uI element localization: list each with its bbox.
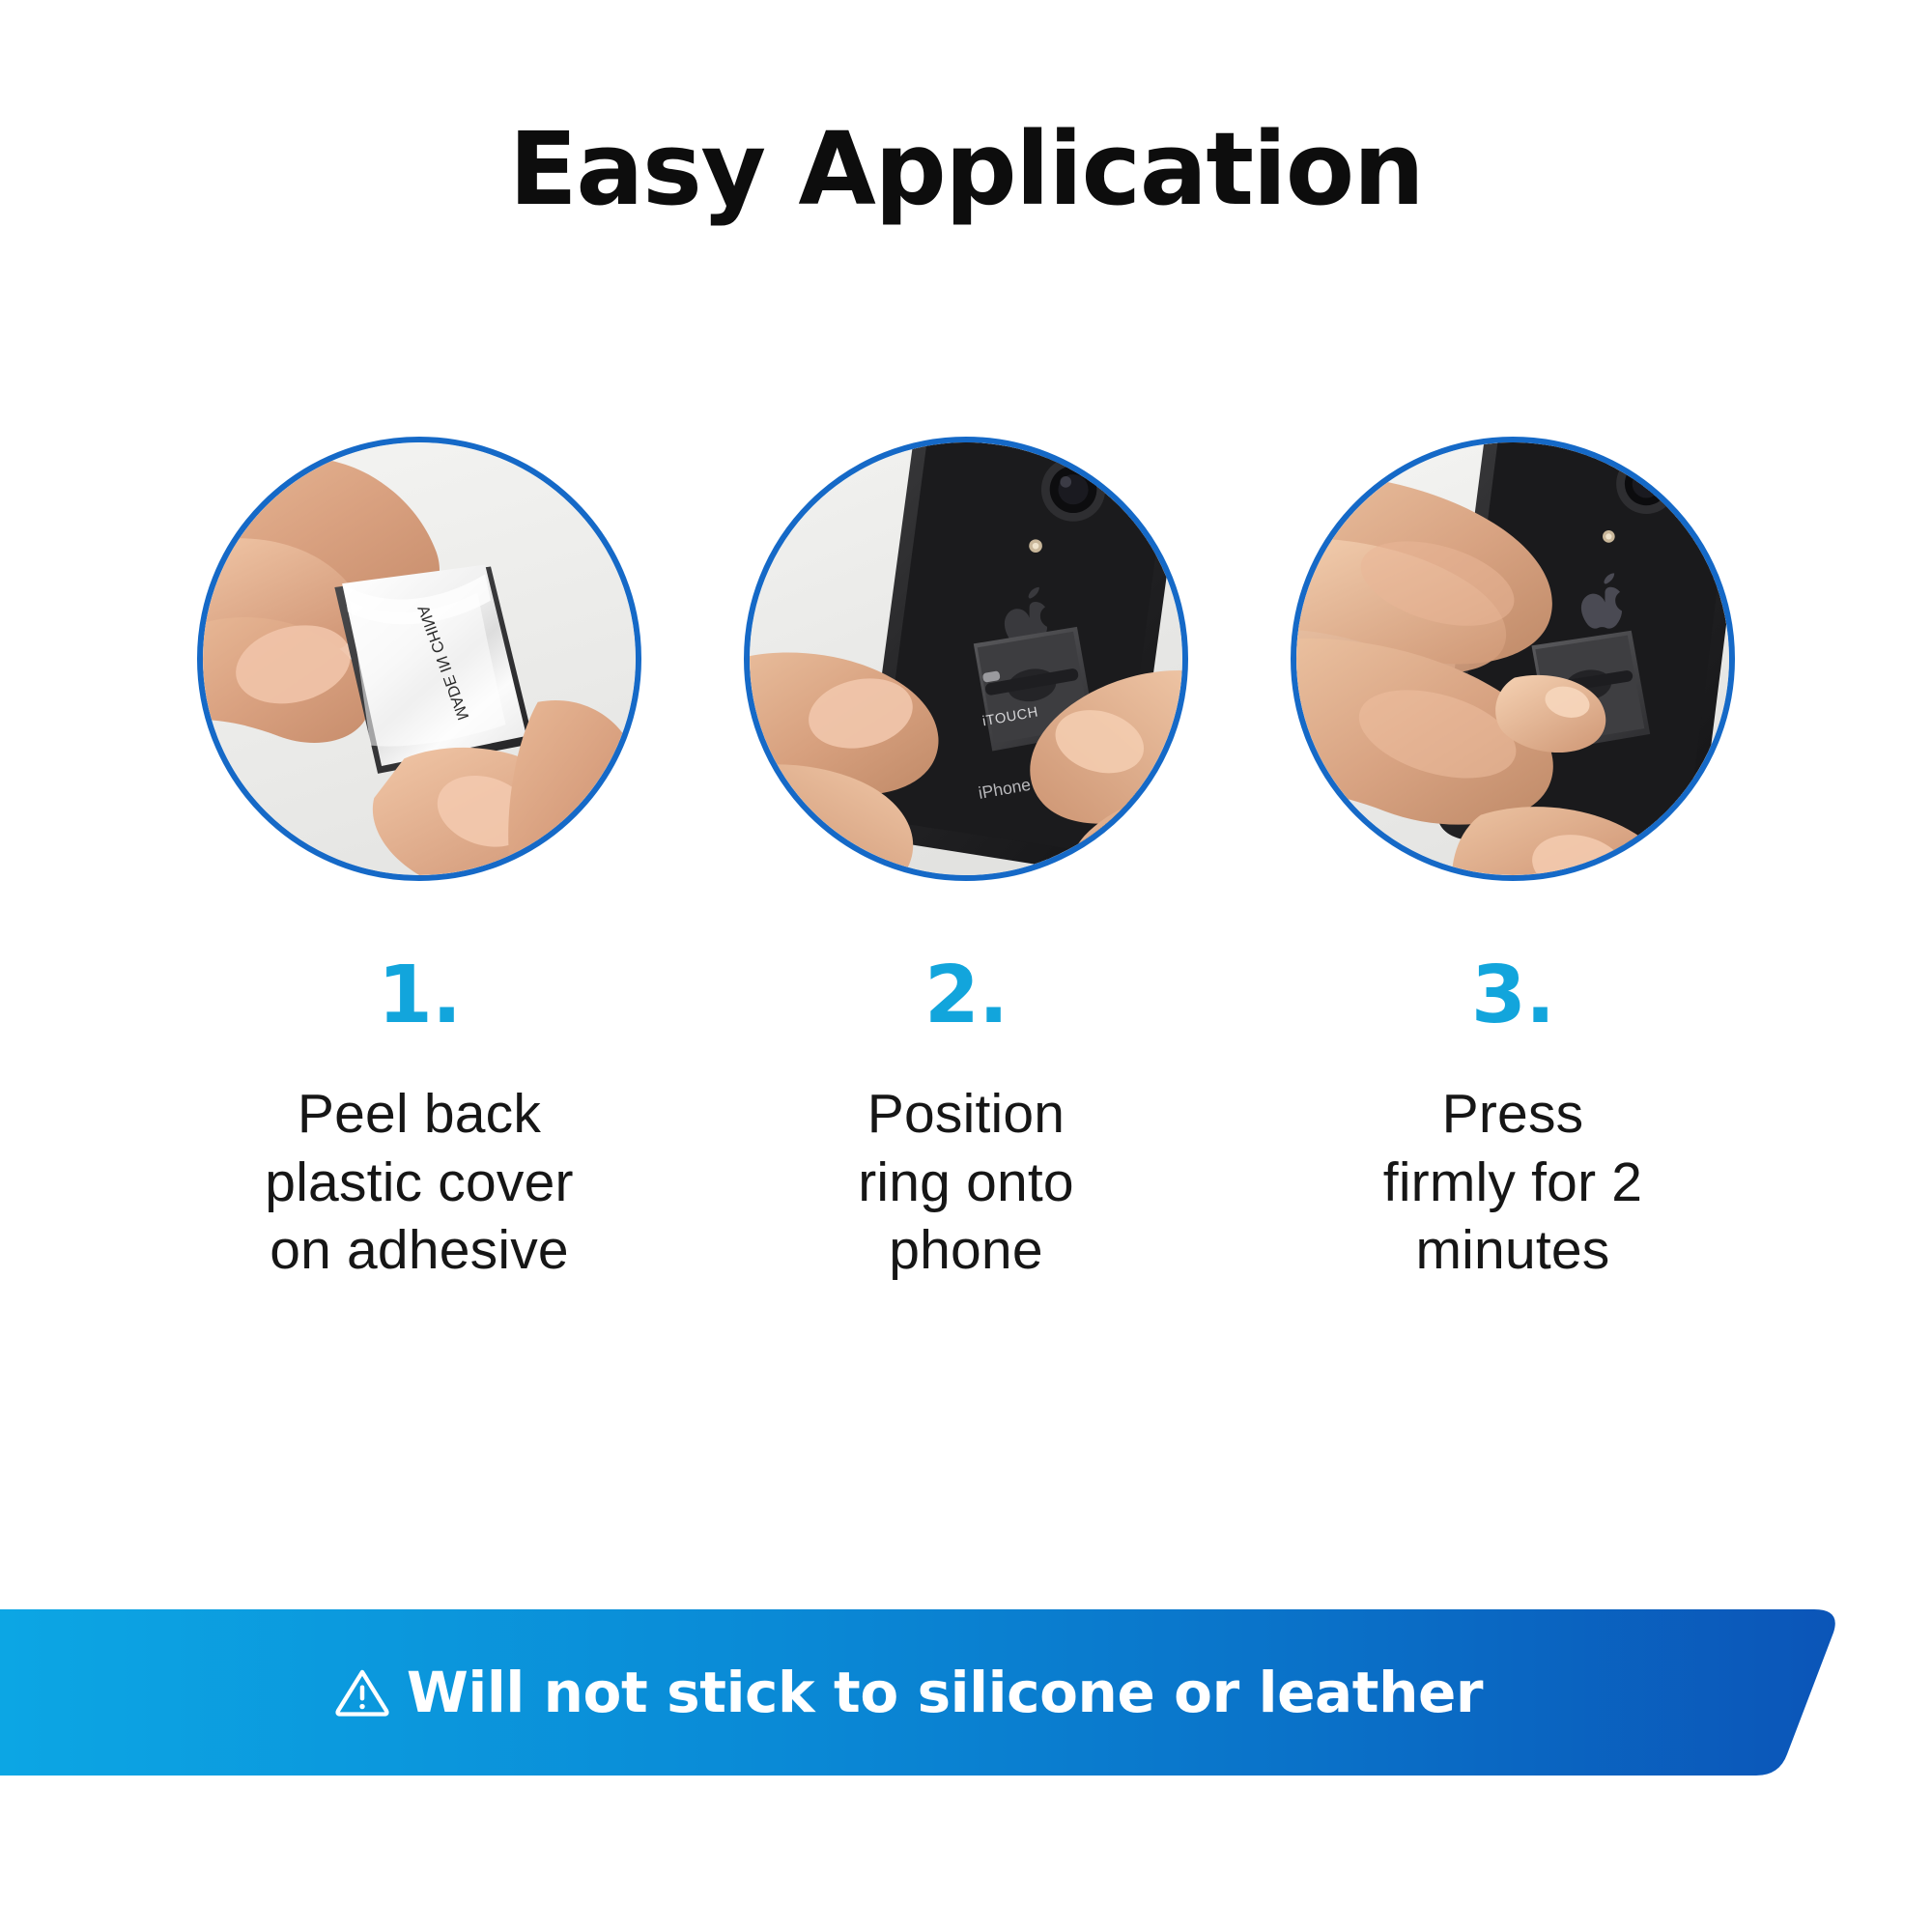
step-2-number: 2. [924, 956, 1008, 1036]
step-1-caption-line-1: Peel back [265, 1080, 573, 1149]
step-3: iTOUCH 3. Press [1239, 437, 1786, 1285]
step-3-caption: Press firmly for 2 minutes [1383, 1080, 1642, 1285]
step-2-caption-line-2: ring onto [858, 1149, 1074, 1217]
banner-content: Will not stick to silicone or leather [0, 1609, 1932, 1776]
step-3-caption-line-2: firmly for 2 [1383, 1149, 1642, 1217]
step-1: MADE IN CHINA 1. Peel back plastic cover… [146, 437, 693, 1285]
page-title: Easy Application [0, 114, 1932, 224]
warning-banner: Will not stick to silicone or leather [0, 1609, 1932, 1776]
warning-triangle-icon [333, 1663, 391, 1721]
step-2-caption-line-1: Position [858, 1080, 1074, 1149]
steps-row: MADE IN CHINA 1. Peel back plastic cover… [0, 437, 1932, 1285]
step-1-number: 1. [378, 956, 461, 1036]
step-3-number: 3. [1471, 956, 1554, 1036]
position-ring-photo: iTOUCH iPhone [750, 442, 1182, 875]
step-1-photo-circle: MADE IN CHINA [197, 437, 641, 881]
peel-plastic-cover-photo: MADE IN CHINA [203, 442, 636, 875]
banner-warning-text: Will not stick to silicone or leather [407, 1660, 1483, 1725]
step-2-caption-line-3: phone [858, 1216, 1074, 1285]
step-1-caption-line-2: plastic cover [265, 1149, 573, 1217]
press-firmly-photo: iTOUCH [1296, 442, 1729, 875]
step-2: iTOUCH iPhone 2. Position ring onto phon… [693, 437, 1239, 1285]
step-3-caption-line-1: Press [1383, 1080, 1642, 1149]
step-2-caption: Position ring onto phone [858, 1080, 1074, 1285]
step-2-photo-circle: iTOUCH iPhone [744, 437, 1188, 881]
step-3-caption-line-3: minutes [1383, 1216, 1642, 1285]
step-1-caption: Peel back plastic cover on adhesive [265, 1080, 573, 1285]
step-3-photo-circle: iTOUCH [1291, 437, 1735, 881]
step-1-caption-line-3: on adhesive [265, 1216, 573, 1285]
